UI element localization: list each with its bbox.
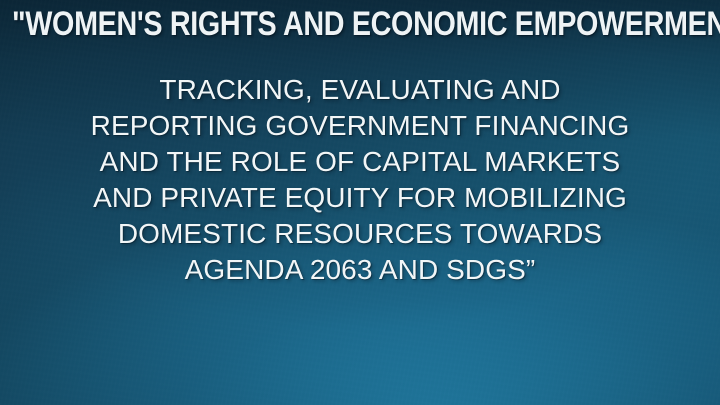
subtitle-line-4: AND PRIVATE EQUITY FOR MOBILIZING <box>60 180 660 216</box>
slide-subtitle-block: TRACKING, EVALUATING AND REPORTING GOVER… <box>60 72 660 288</box>
subtitle-line-2: REPORTING GOVERNMENT FINANCING <box>60 108 660 144</box>
slide-content: "WOMEN'S RIGHTS AND ECONOMIC EMPOWERMENT… <box>0 0 720 405</box>
presentation-slide: "WOMEN'S RIGHTS AND ECONOMIC EMPOWERMENT… <box>0 0 720 405</box>
subtitle-line-5: DOMESTIC RESOURCES TOWARDS <box>60 216 660 252</box>
slide-title: "WOMEN'S RIGHTS AND ECONOMIC EMPOWERMENT… <box>12 5 610 43</box>
subtitle-line-3: AND THE ROLE OF CAPITAL MARKETS <box>60 144 660 180</box>
subtitle-line-1: TRACKING, EVALUATING AND <box>60 72 660 108</box>
subtitle-line-6: AGENDA 2063 AND SDGS” <box>60 252 660 288</box>
